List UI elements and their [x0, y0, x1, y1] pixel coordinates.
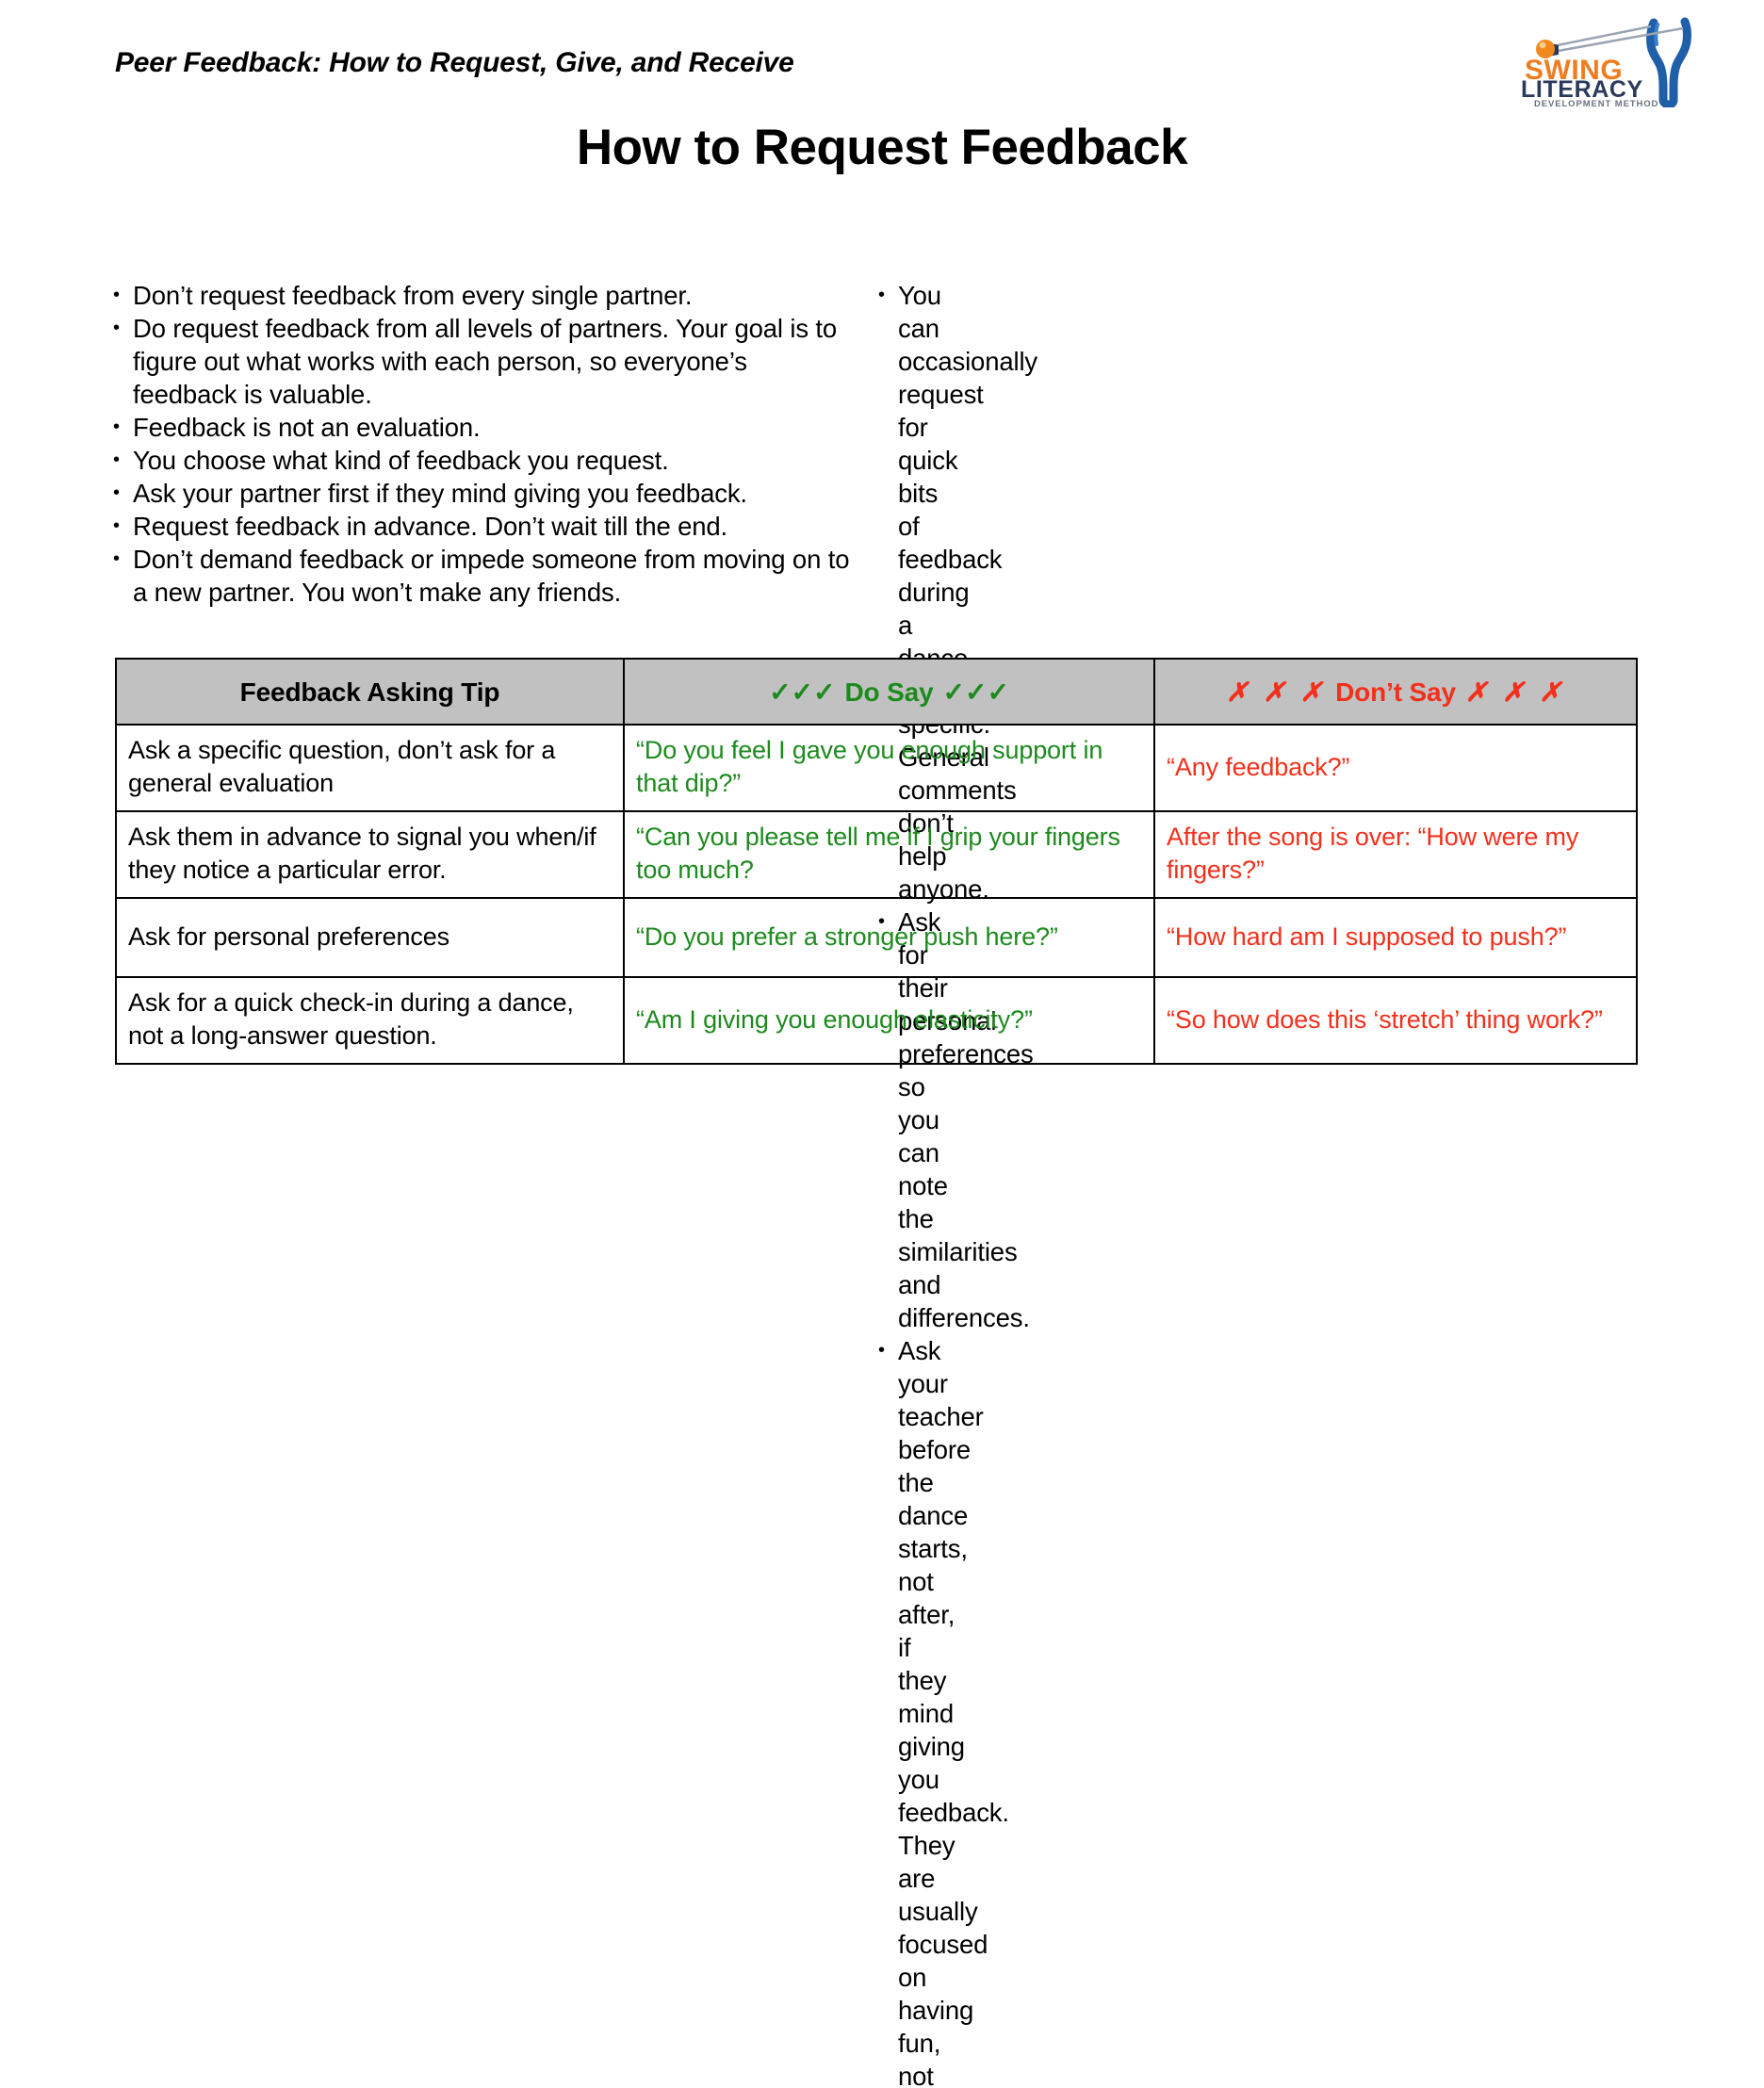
feedback-tips-table: Feedback Asking Tip ✓✓✓Do Say✓✓✓ ✗ ✗ ✗Do…: [115, 658, 1638, 1065]
header-subtitle: Peer Feedback: How to Request, Give, and…: [115, 47, 794, 79]
bullet-area: Don’t request feedback from every single…: [0, 279, 1764, 2088]
check-icon-right: ✓✓✓: [943, 677, 1009, 707]
column-header-dont-say: ✗ ✗ ✗Don’t Say✗ ✗ ✗: [1154, 659, 1637, 725]
page-title: How to Request Feedback: [0, 119, 1764, 176]
cell-do-say: “Do you feel I gave you enough support i…: [624, 725, 1154, 811]
page-header: Peer Feedback: How to Request, Give, and…: [0, 0, 1764, 113]
column-header-do-say: ✓✓✓Do Say✓✓✓: [624, 659, 1154, 725]
check-icon-left: ✓✓✓: [769, 677, 835, 707]
cross-icon-right: ✗ ✗ ✗: [1465, 677, 1565, 707]
cross-icon-left: ✗ ✗ ✗: [1226, 677, 1326, 707]
list-item: Feedback is not an evaluation.: [111, 411, 854, 444]
table-row: Ask for personal preferences “Do you pre…: [116, 898, 1637, 977]
logo-graphic: SWING LITERACY DEVELOPMENT METHOD: [1519, 13, 1707, 107]
cell-do-say: “Can you please tell me if I grip your f…: [624, 811, 1154, 898]
list-item: Don’t demand feedback or impede someone …: [111, 543, 854, 609]
column-header-do-say-label: Do Say: [835, 677, 942, 707]
table-row: Ask for a quick check-in during a dance,…: [116, 977, 1637, 1064]
cell-tip: Ask for a quick check-in during a dance,…: [116, 977, 624, 1064]
list-item: You choose what kind of feedback you req…: [111, 444, 854, 477]
swing-literacy-logo: SWING LITERACY DEVELOPMENT METHOD: [1519, 13, 1707, 107]
logo-tagline: DEVELOPMENT METHOD: [1534, 99, 1658, 107]
column-header-dont-say-label: Don’t Say: [1326, 677, 1465, 707]
cell-do-say: “Am I giving you enough elasticity?”: [624, 977, 1154, 1064]
cell-tip: Ask them in advance to signal you when/i…: [116, 811, 624, 898]
table-row: Ask a specific question, don’t ask for a…: [116, 725, 1637, 811]
cell-tip: Ask a specific question, don’t ask for a…: [116, 725, 624, 811]
cell-dont-say: “So how does this ‘stretch’ thing work?”: [1154, 977, 1637, 1064]
list-item: Request feedback in advance. Don’t wait …: [111, 510, 854, 543]
list-item: Do request feedback from all levels of p…: [111, 312, 854, 411]
list-item: Don’t request feedback from every single…: [111, 279, 854, 312]
cell-dont-say: “How hard am I supposed to push?”: [1154, 898, 1637, 977]
bullet-list-left: Don’t request feedback from every single…: [111, 279, 854, 609]
cell-do-say: “Do you prefer a stronger push here?”: [624, 898, 1154, 977]
bullet-list-right: You can occasionally request for quick b…: [876, 279, 886, 2088]
cell-tip: Ask for personal preferences: [116, 898, 624, 977]
table-header-row: Feedback Asking Tip ✓✓✓Do Say✓✓✓ ✗ ✗ ✗Do…: [116, 659, 1637, 725]
table-row: Ask them in advance to signal you when/i…: [116, 811, 1637, 898]
list-item: Ask your teacher before the dance starts…: [876, 1334, 898, 2088]
list-item: Ask your partner first if they mind givi…: [111, 477, 854, 510]
cell-dont-say: After the song is over: “How were my fin…: [1154, 811, 1637, 898]
column-header-tip: Feedback Asking Tip: [116, 659, 624, 725]
cell-dont-say: “Any feedback?”: [1154, 725, 1637, 811]
